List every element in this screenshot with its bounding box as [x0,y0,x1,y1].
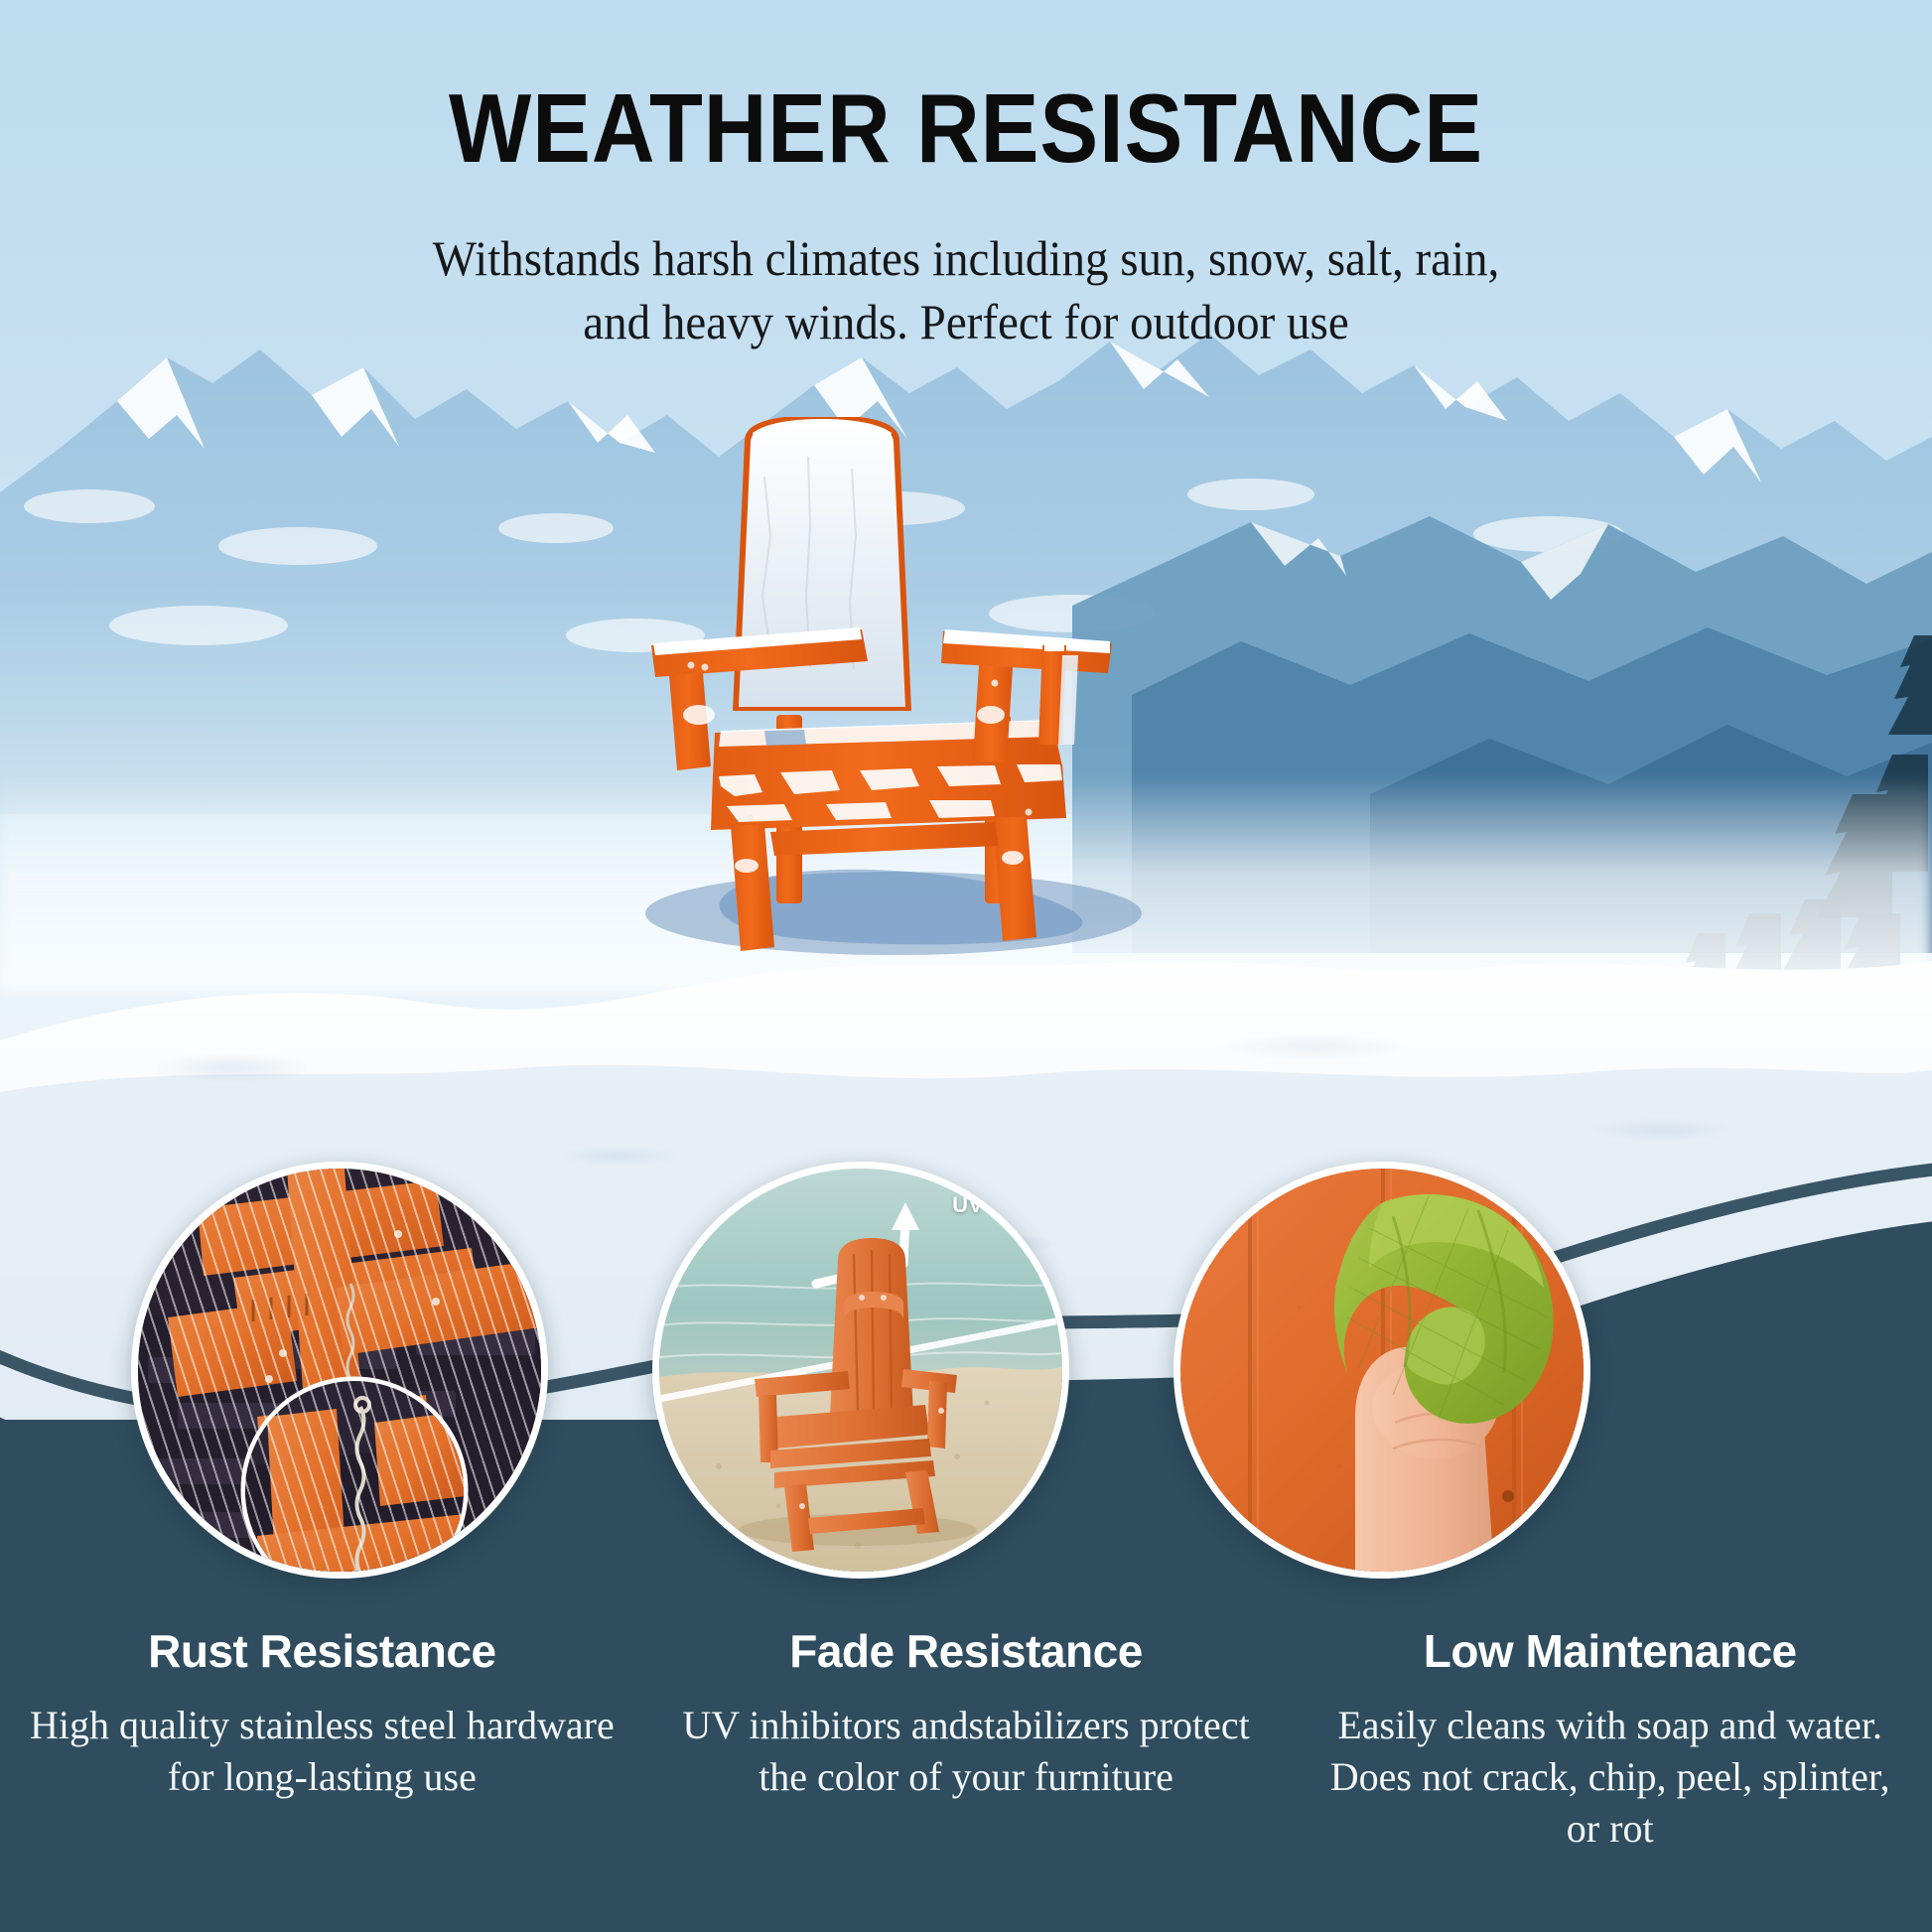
feature-image-rust-resistance [131,1162,548,1579]
subtitle-line-2: and heavy winds. Perfect for outdoor use [58,290,1873,353]
beach-chair-uv-icon: UV Light [659,1169,1062,1572]
feature-cards: Rust Resistance High quality stainless s… [0,1624,1932,1932]
infographic-root: WEATHER RESISTANCE Withstands harsh clim… [0,0,1932,1932]
rain-overlay [138,1169,541,1572]
page-subtitle: Withstands harsh climates including sun,… [58,226,1873,353]
feature-image-low-maintenance [1173,1162,1590,1579]
subtitle-line-1: Withstands harsh climates including sun,… [58,226,1873,290]
page-title: WEATHER RESISTANCE [96,77,1835,180]
feature-title: Fade Resistance [670,1624,1263,1678]
feature-card-low-maintenance: Low Maintenance Easily cleans with soap … [1288,1624,1932,1932]
feature-body: UV inhibitors andstabilizers protect the… [670,1700,1263,1803]
uv-light-label: UV Light [952,1192,1044,1218]
feature-card-rust-resistance: Rust Resistance High quality stainless s… [0,1624,644,1932]
feature-title: Rust Resistance [26,1624,619,1678]
feature-title: Low Maintenance [1313,1624,1906,1678]
feature-body: Easily cleans with soap and water. Does … [1313,1700,1906,1855]
feature-card-fade-resistance: Fade Resistance UV inhibitors andstabili… [644,1624,1289,1932]
hand-wiping-cloth-icon [1180,1169,1584,1572]
feature-body: High quality stainless steel hardware fo… [26,1700,619,1803]
hero-chair-image [596,417,1231,973]
rain-chair-hardware-icon [138,1169,541,1572]
feature-image-fade-resistance: UV Light [652,1162,1069,1579]
